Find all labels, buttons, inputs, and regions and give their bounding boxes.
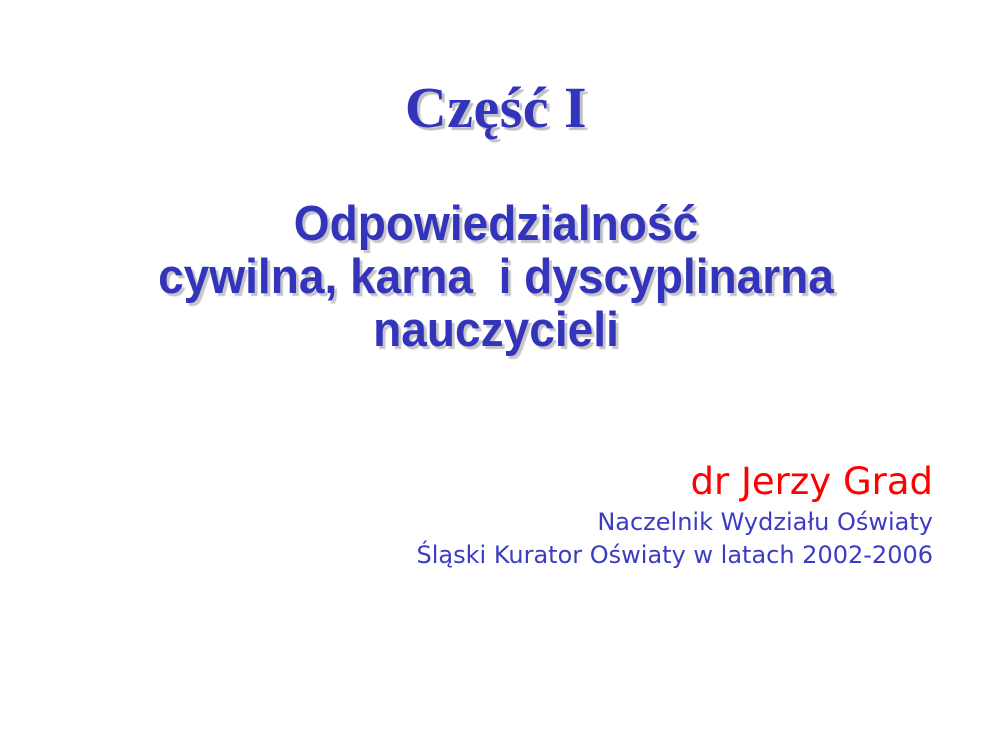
author-tenure: Śląski Kurator Oświaty w latach 2002-200…	[0, 539, 933, 572]
author-name: dr Jerzy Grad	[0, 460, 933, 504]
slide-title-line-2: cywilna, karna i dyscyplinarna	[30, 251, 962, 304]
author-role: Naczelnik Wydziału Oświaty	[0, 506, 933, 539]
author-block: dr Jerzy Grad Naczelnik Wydziału Oświaty…	[0, 460, 933, 572]
slide-title: Odpowiedzialność cywilna, karna i dyscyp…	[0, 198, 992, 357]
slide-title-line-3: nauczycieli	[30, 304, 962, 357]
slide-canvas: Część I Odpowiedzialność cywilna, karna …	[0, 0, 992, 744]
part-heading: Część I	[0, 78, 992, 139]
slide-title-line-1: Odpowiedzialność	[30, 198, 962, 251]
